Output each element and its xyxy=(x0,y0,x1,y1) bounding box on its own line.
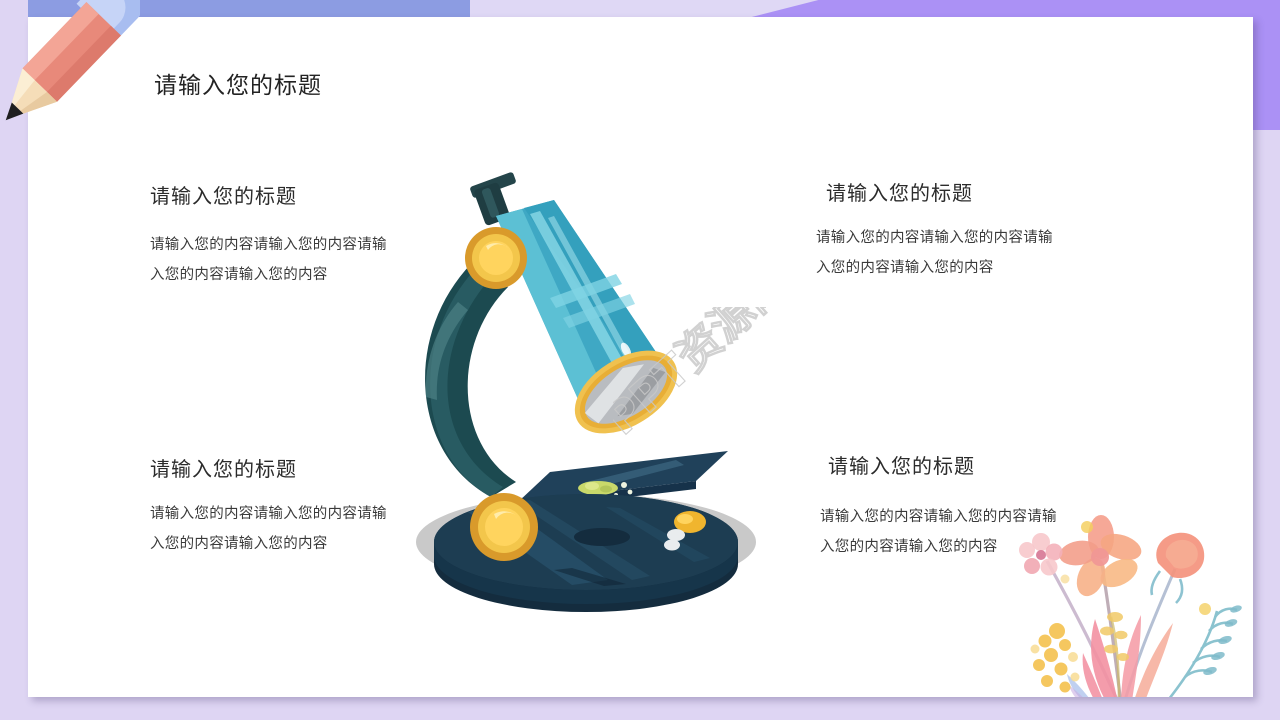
block-heading: 请输入您的标题 xyxy=(816,177,1061,206)
text-block-bottom-right: 请输入您的标题 请输入您的内容请输入您的内容请输入您的内容请输入您的内容 xyxy=(818,450,1063,562)
microscope-illustration xyxy=(358,152,828,612)
block-body: 请输入您的内容请输入您的内容请输入您的内容请输入您的内容 xyxy=(818,503,1063,562)
slide-card: 请输入您的标题 xyxy=(28,17,1253,697)
background-strip-left xyxy=(0,0,28,720)
block-heading: 请输入您的标题 xyxy=(818,450,1063,479)
block-body: 请输入您的内容请输入您的内容请输入您的内容请输入您的内容 xyxy=(816,224,1061,283)
background-strip-right xyxy=(1253,0,1280,130)
page-title: 请输入您的标题 xyxy=(154,73,322,101)
slide-canvas: 请输入您的标题 xyxy=(0,0,1280,720)
text-block-top-right: 请输入您的标题 请输入您的内容请输入您的内容请输入您的内容请输入您的内容 xyxy=(816,177,1061,283)
